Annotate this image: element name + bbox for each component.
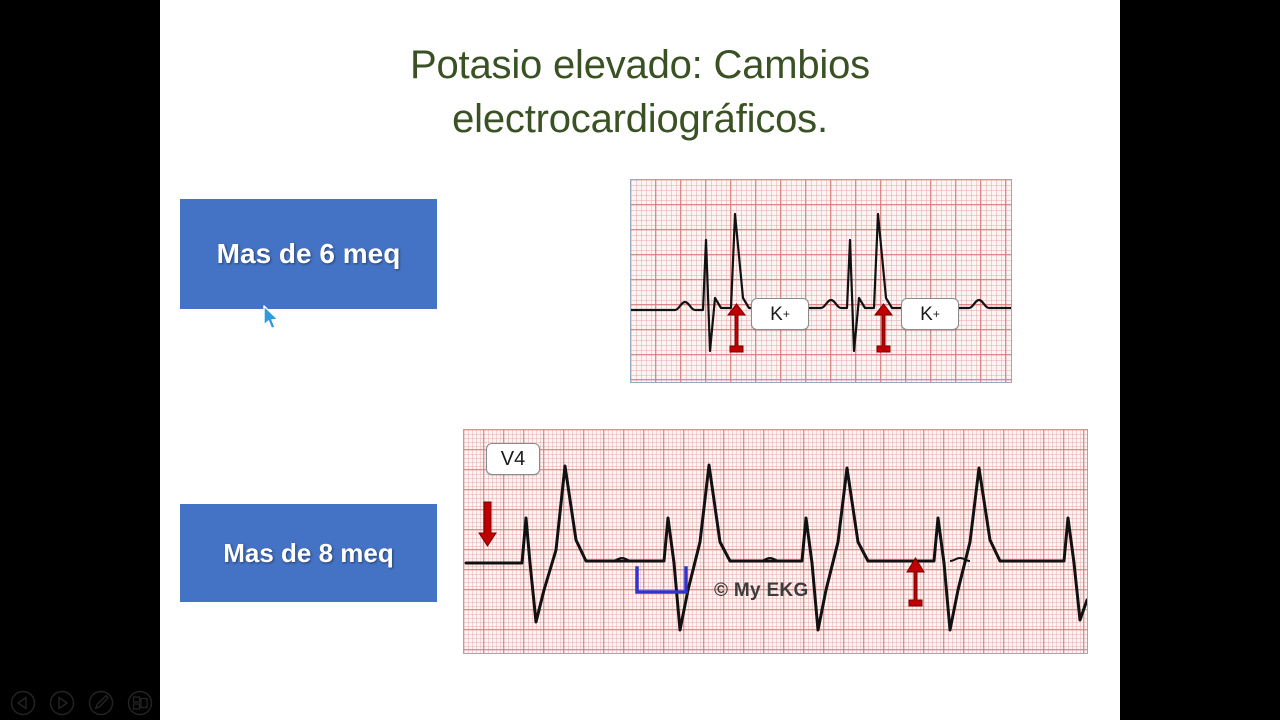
arrow-down-icon xyxy=(479,502,496,546)
presentation-viewer: Potasio elevado: Cambios electrocardiogr… xyxy=(0,0,1280,720)
triangle-left-icon xyxy=(10,690,36,716)
mouse-pointer-icon xyxy=(263,305,281,331)
st-segment-bracket-icon xyxy=(637,568,686,592)
pen-icon xyxy=(88,690,114,716)
previous-slide-button[interactable] xyxy=(8,688,38,718)
label-lead-v4-text: V4 xyxy=(501,449,525,469)
label-potassium-1: K+ xyxy=(751,298,809,330)
label-potassium-sup-2: + xyxy=(933,308,940,320)
arrow-up-icon xyxy=(728,304,745,352)
page-title-line-1: Potasio elevado: Cambios xyxy=(200,38,1080,92)
callout-box-8-meq[interactable]: Mas de 8 meq xyxy=(180,504,437,602)
arrow-up-icon xyxy=(875,304,892,352)
arrow-up-icon xyxy=(907,558,924,606)
slides-grid-icon xyxy=(127,690,153,716)
triangle-right-icon xyxy=(49,690,75,716)
presentation-toolbar xyxy=(8,686,238,720)
callout-box-6-meq[interactable]: Mas de 6 meq xyxy=(180,199,437,309)
label-potassium-text-1: K xyxy=(770,305,783,324)
more-options-button[interactable] xyxy=(203,688,233,718)
ecg-strip-hyperkalemia-6: K+ K+ xyxy=(630,179,1012,383)
ellipsis-icon xyxy=(205,690,231,716)
slide-overview-button[interactable] xyxy=(125,688,155,718)
callout-label-6-meq: Mas de 6 meq xyxy=(217,238,401,270)
page-title: Potasio elevado: Cambios electrocardiogr… xyxy=(200,38,1080,146)
zoom-button[interactable] xyxy=(164,688,194,718)
ecg-annotation-group-bottom xyxy=(464,430,1087,653)
label-potassium-text-2: K xyxy=(920,305,933,324)
slide-canvas: Potasio elevado: Cambios electrocardiogr… xyxy=(160,0,1120,720)
callout-label-8-meq: Mas de 8 meq xyxy=(223,538,394,569)
watermark-my-ekg: © My EKG xyxy=(714,580,809,602)
label-lead-v4: V4 xyxy=(486,443,540,475)
label-potassium-sup-1: + xyxy=(783,308,790,320)
label-potassium-2: K+ xyxy=(901,298,959,330)
magnifier-icon xyxy=(166,690,192,716)
ecg-strip-hyperkalemia-8: V4 © My EKG xyxy=(463,429,1088,654)
pen-tool-button[interactable] xyxy=(86,688,116,718)
next-slide-button[interactable] xyxy=(47,688,77,718)
ecg-arrow-up-group-top xyxy=(631,180,1011,382)
page-title-line-2: electrocardiográficos. xyxy=(200,92,1080,146)
